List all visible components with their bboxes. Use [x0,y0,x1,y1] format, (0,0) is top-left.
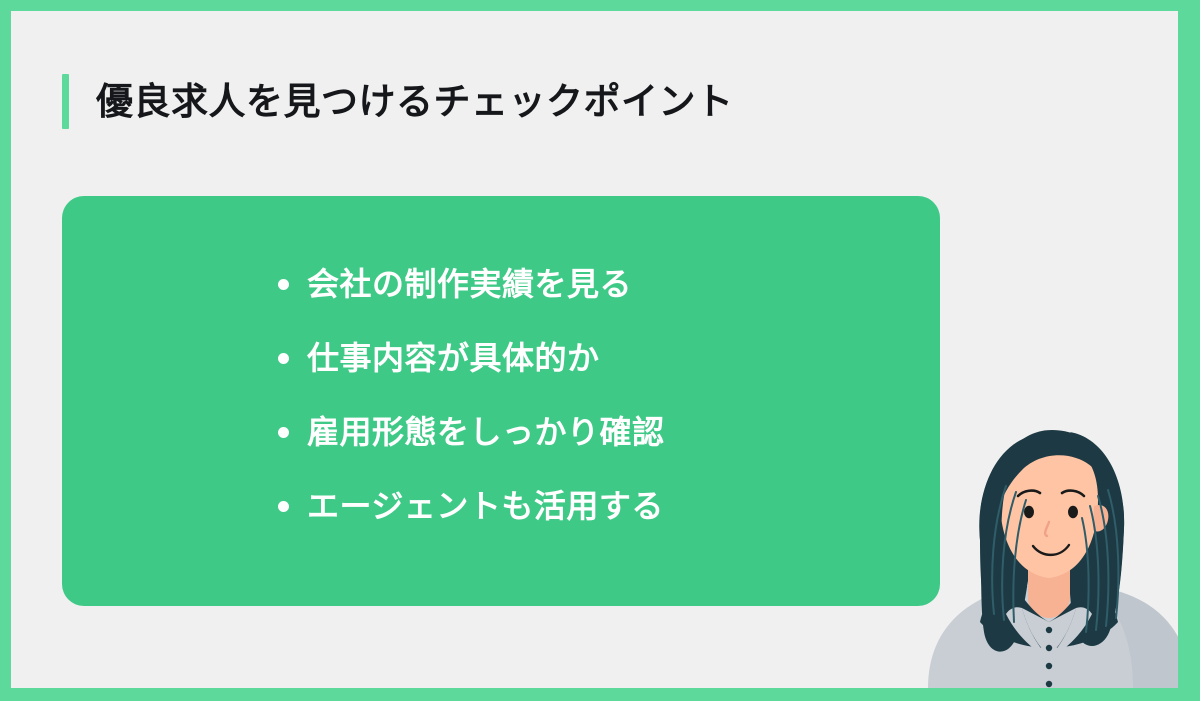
shirt-button [1046,681,1052,687]
bullet-dot-icon [278,353,289,364]
list-item: 仕事内容が具体的か [278,321,665,395]
list-item-label: 仕事内容が具体的か [307,342,600,374]
shirt-button [1046,627,1052,633]
bullet-dot-icon [278,279,289,290]
page-title-text: 優良求人を見つけるチェックポイント [96,83,734,120]
title-accent-bar [62,74,69,129]
slide-root: 優良求人を見つけるチェックポイント 会社の制作実績を見る 仕事内容が具体的か 雇… [0,0,1200,701]
page-title: 優良求人を見つけるチェックポイント [62,73,734,129]
bullet-dot-icon [278,427,289,438]
checklist-list: 会社の制作実績を見る 仕事内容が具体的か 雇用形態をしっかり確認 エージェントも… [278,247,665,543]
list-item: 会社の制作実績を見る [278,247,665,321]
checklist-card: 会社の制作実績を見る 仕事内容が具体的か 雇用形態をしっかり確認 エージェントも… [62,196,940,606]
list-item: 雇用形態をしっかり確認 [278,395,665,469]
list-item-label: エージェントも活用する [307,490,664,522]
slide-canvas: 優良求人を見つけるチェックポイント 会社の制作実績を見る 仕事内容が具体的か 雇… [11,11,1178,688]
list-item-label: 雇用形態をしっかり確認 [307,416,665,448]
list-item-label: 会社の制作実績を見る [307,268,632,300]
eye-left [1024,506,1034,518]
woman-portrait-graphic [918,408,1178,688]
list-item: エージェントも活用する [278,469,665,543]
shirt-button [1046,663,1052,669]
shirt-button [1046,645,1052,651]
smiling-woman-illustration [918,408,1178,688]
eye-right [1068,506,1078,518]
bullet-dot-icon [278,501,289,512]
